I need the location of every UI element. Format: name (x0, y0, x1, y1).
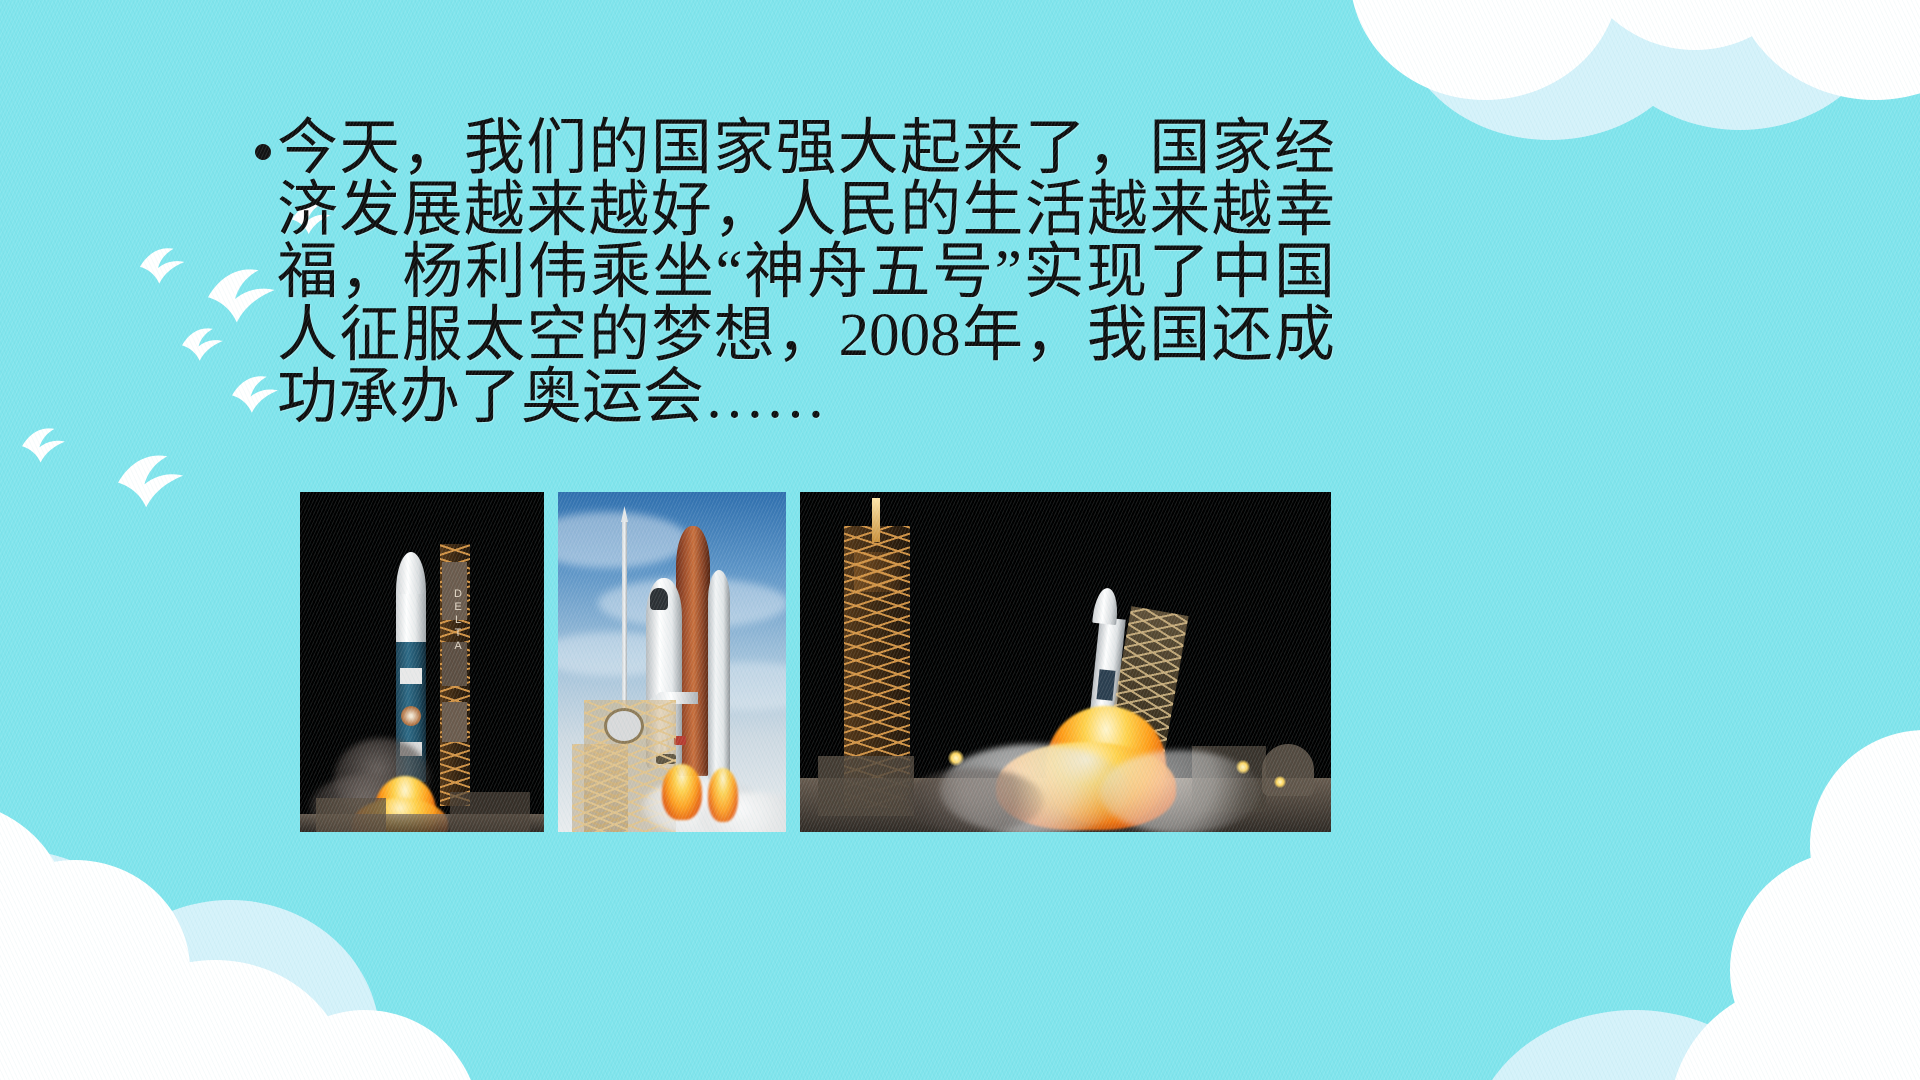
seagull-icon (182, 328, 223, 360)
rocket-upper-stage (396, 594, 426, 644)
rocket-marking (400, 668, 422, 684)
rocket-logo-badge (401, 706, 421, 726)
body-paragraph: 今天，我们的国家强大起来了，国家经济发展越来越好，人民的生活越来越幸福，杨利伟乘… (277, 118, 1335, 429)
photo-strip: DELTA (300, 492, 1605, 832)
mast-panel (442, 702, 467, 742)
solid-rocket-booster (708, 570, 730, 780)
launch-gantry (572, 744, 628, 832)
mast-lettering: DELTA (446, 588, 464, 684)
seagull-icon (118, 455, 183, 507)
photo-delta-rocket-night-launch[interactable]: DELTA (300, 492, 544, 832)
bullet-row: 今天，我们的国家强大起来了，国家经济发展越来越好，人民的生活越来越幸福，杨利伟乘… (255, 118, 1335, 429)
rocket-marking (1096, 669, 1115, 701)
exhaust-smoke (1100, 750, 1260, 832)
pad-structure (450, 792, 530, 832)
spherical-tank (1262, 744, 1314, 796)
lightning-mast (622, 518, 627, 718)
cloud-top-right (1370, 0, 1920, 190)
pad-structure (316, 798, 386, 832)
bullet-point-icon (255, 144, 271, 160)
seagull-icon (22, 428, 65, 462)
photo-night-rocket-launch[interactable] (800, 492, 1331, 832)
slide-canvas: 今天，我们的国家强大起来了，国家经济发展越来越好，人民的生活越来越幸福，杨利伟乘… (0, 0, 1920, 1080)
exhaust-smoke (904, 768, 1044, 832)
booster-flame (708, 768, 738, 822)
seagull-icon (140, 248, 184, 283)
cloud-bottom-right (1550, 790, 1920, 1080)
engine-flame (662, 764, 702, 820)
tower-antenna (872, 498, 880, 542)
tower-platform (854, 552, 900, 592)
orbiter-cockpit-windows (650, 588, 668, 610)
pad-building (818, 756, 914, 816)
gantry-sphere (604, 708, 644, 744)
pad-light (1274, 776, 1286, 788)
photo-space-shuttle-launch[interactable] (558, 492, 786, 832)
slide-body-text-block: 今天，我们的国家强大起来了，国家经济发展越来越好，人民的生活越来越幸福，杨利伟乘… (255, 118, 1335, 429)
